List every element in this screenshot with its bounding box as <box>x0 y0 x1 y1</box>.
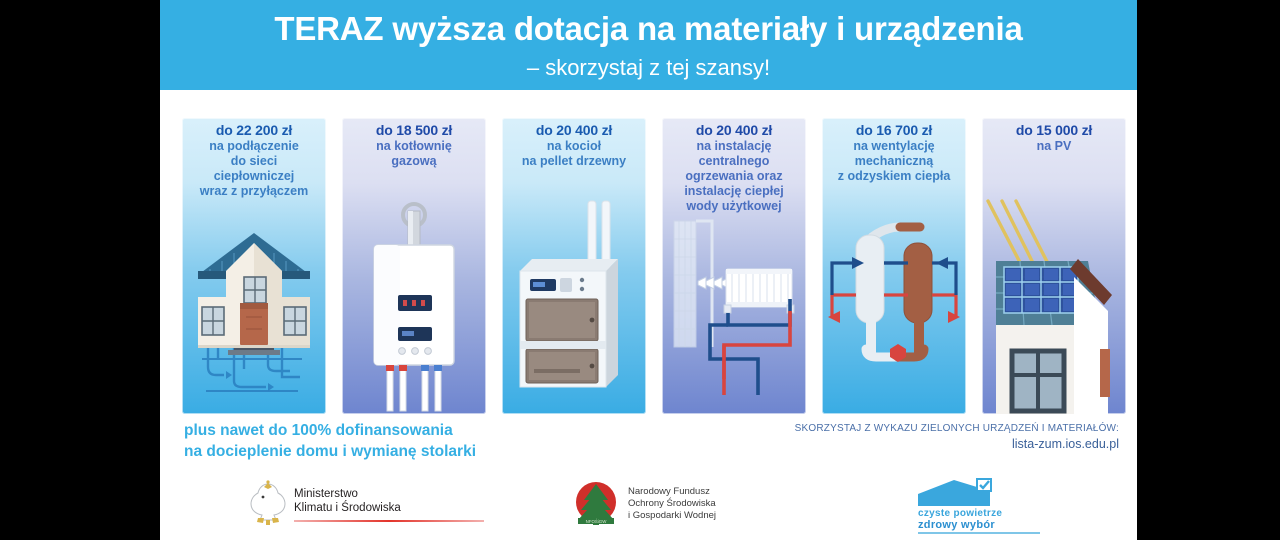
card-caption: do 22 200 zł na podłączenie do sieci cie… <box>186 123 322 199</box>
card-amount: do 20 400 zł <box>666 123 802 138</box>
subsidy-card-grid: do 22 200 zł na podłączenie do sieci cie… <box>174 118 1134 414</box>
card-description: na kotłownię gazową <box>346 139 482 169</box>
screenshot-stage: TERAZ wyższa dotacja na materiały i urzą… <box>0 0 1280 540</box>
subsidy-card-ventilation[interactable]: do 16 700 zł na wentylację mechaniczną z… <box>822 118 966 414</box>
card-description: na wentylację mechaniczną z odzyskiem ci… <box>826 139 962 184</box>
list-line-1: SKORZYSTAJ Z WYKAZU ZIELONYCH URZĄDZEŃ I… <box>699 422 1119 436</box>
list-url[interactable]: lista-zum.ios.edu.pl <box>699 436 1119 453</box>
nfosigw-line-1: Narodowy Fundusz <box>628 486 716 498</box>
card-caption: do 20 400 zł na kocioł na pellet drzewny <box>506 123 642 169</box>
ministry-line-1: Ministerstwo <box>294 487 401 501</box>
house-check-icon <box>910 478 1040 508</box>
radiator-shower-icon <box>662 199 806 414</box>
card-description: na kocioł na pellet drzewny <box>506 139 642 169</box>
card-amount: do 20 400 zł <box>506 123 642 138</box>
logo-bar: Ministerstwo Klimatu i Środowiska NFOŚiG… <box>160 478 1137 538</box>
logo-ministry-of-climate: Ministerstwo Klimatu i Środowiska <box>246 478 516 536</box>
card-amount: do 16 700 zł <box>826 123 962 138</box>
header-subtitle: – skorzystaj z tej szansy! <box>160 56 1137 80</box>
subsidy-card-gas-boiler[interactable]: do 18 500 zł na kotłownię gazową <box>342 118 486 414</box>
card-amount: do 22 200 zł <box>186 123 322 138</box>
logo-nfosigw: NFOŚiGW Narodowy Fundusz Ochrony Środowi… <box>570 478 840 536</box>
logo-czyste-powietrze: czyste powietrze zdrowy wybór <box>910 478 1110 536</box>
infographic-poster: TERAZ wyższa dotacja na materiały i urzą… <box>160 0 1137 540</box>
cp-line-2: zdrowy wybór <box>918 519 995 531</box>
additional-funding-note: plus nawet do 100% dofinansowania na doc… <box>184 420 604 462</box>
ministry-logo-text: Ministerstwo Klimatu i Środowiska <box>294 487 401 515</box>
card-caption: do 18 500 zł na kotłownię gazową <box>346 123 482 169</box>
photovoltaic-panel-icon <box>982 199 1126 414</box>
card-description: na PV <box>986 139 1122 154</box>
subsidy-card-pellet-boiler[interactable]: do 20 400 zł na kocioł na pellet drzewny <box>502 118 646 414</box>
ministry-red-rule <box>294 520 484 522</box>
house-district-heating-icon <box>182 199 326 414</box>
card-amount: do 18 500 zł <box>346 123 482 138</box>
heat-recovery-ventilation-icon <box>822 199 966 414</box>
cp-blue-rule <box>918 532 1040 534</box>
subsidy-card-central-heating[interactable]: do 20 400 zł na instalację centralnego o… <box>662 118 806 414</box>
plus-line-2: na docieplenie domu i wymianę stolarki <box>184 441 604 462</box>
nfosigw-line-3: i Gospodarki Wodnej <box>628 510 716 522</box>
subsidy-card-photovoltaics[interactable]: do 15 000 zł na PV <box>982 118 1126 414</box>
card-caption: do 15 000 zł na PV <box>986 123 1122 154</box>
cp-line-1: czyste powietrze <box>918 508 1002 519</box>
poster-header: TERAZ wyższa dotacja na materiały i urzą… <box>160 0 1137 90</box>
nfosigw-tree-icon: NFOŚiGW <box>570 478 624 528</box>
pellet-boiler-icon <box>502 199 646 414</box>
card-caption: do 16 700 zł na wentylację mechaniczną z… <box>826 123 962 184</box>
nfosigw-logo-text: Narodowy Fundusz Ochrony Środowiska i Go… <box>628 486 716 522</box>
card-amount: do 15 000 zł <box>986 123 1122 138</box>
svg-text:NFOŚiGW: NFOŚiGW <box>586 519 608 524</box>
ministry-line-2: Klimatu i Środowiska <box>294 501 401 515</box>
gas-boiler-icon <box>342 199 486 414</box>
plus-line-1: plus nawet do 100% dofinansowania <box>184 420 604 441</box>
card-description: na podłączenie do sieci ciepłowniczej wr… <box>186 139 322 199</box>
header-title: TERAZ wyższa dotacja na materiały i urzą… <box>160 10 1137 48</box>
green-list-note: SKORZYSTAJ Z WYKAZU ZIELONYCH URZĄDZEŃ I… <box>699 422 1119 453</box>
polish-eagle-emblem-icon <box>246 478 290 528</box>
subsidy-card-district-heating[interactable]: do 22 200 zł na podłączenie do sieci cie… <box>182 118 326 414</box>
nfosigw-line-2: Ochrony Środowiska <box>628 498 716 510</box>
